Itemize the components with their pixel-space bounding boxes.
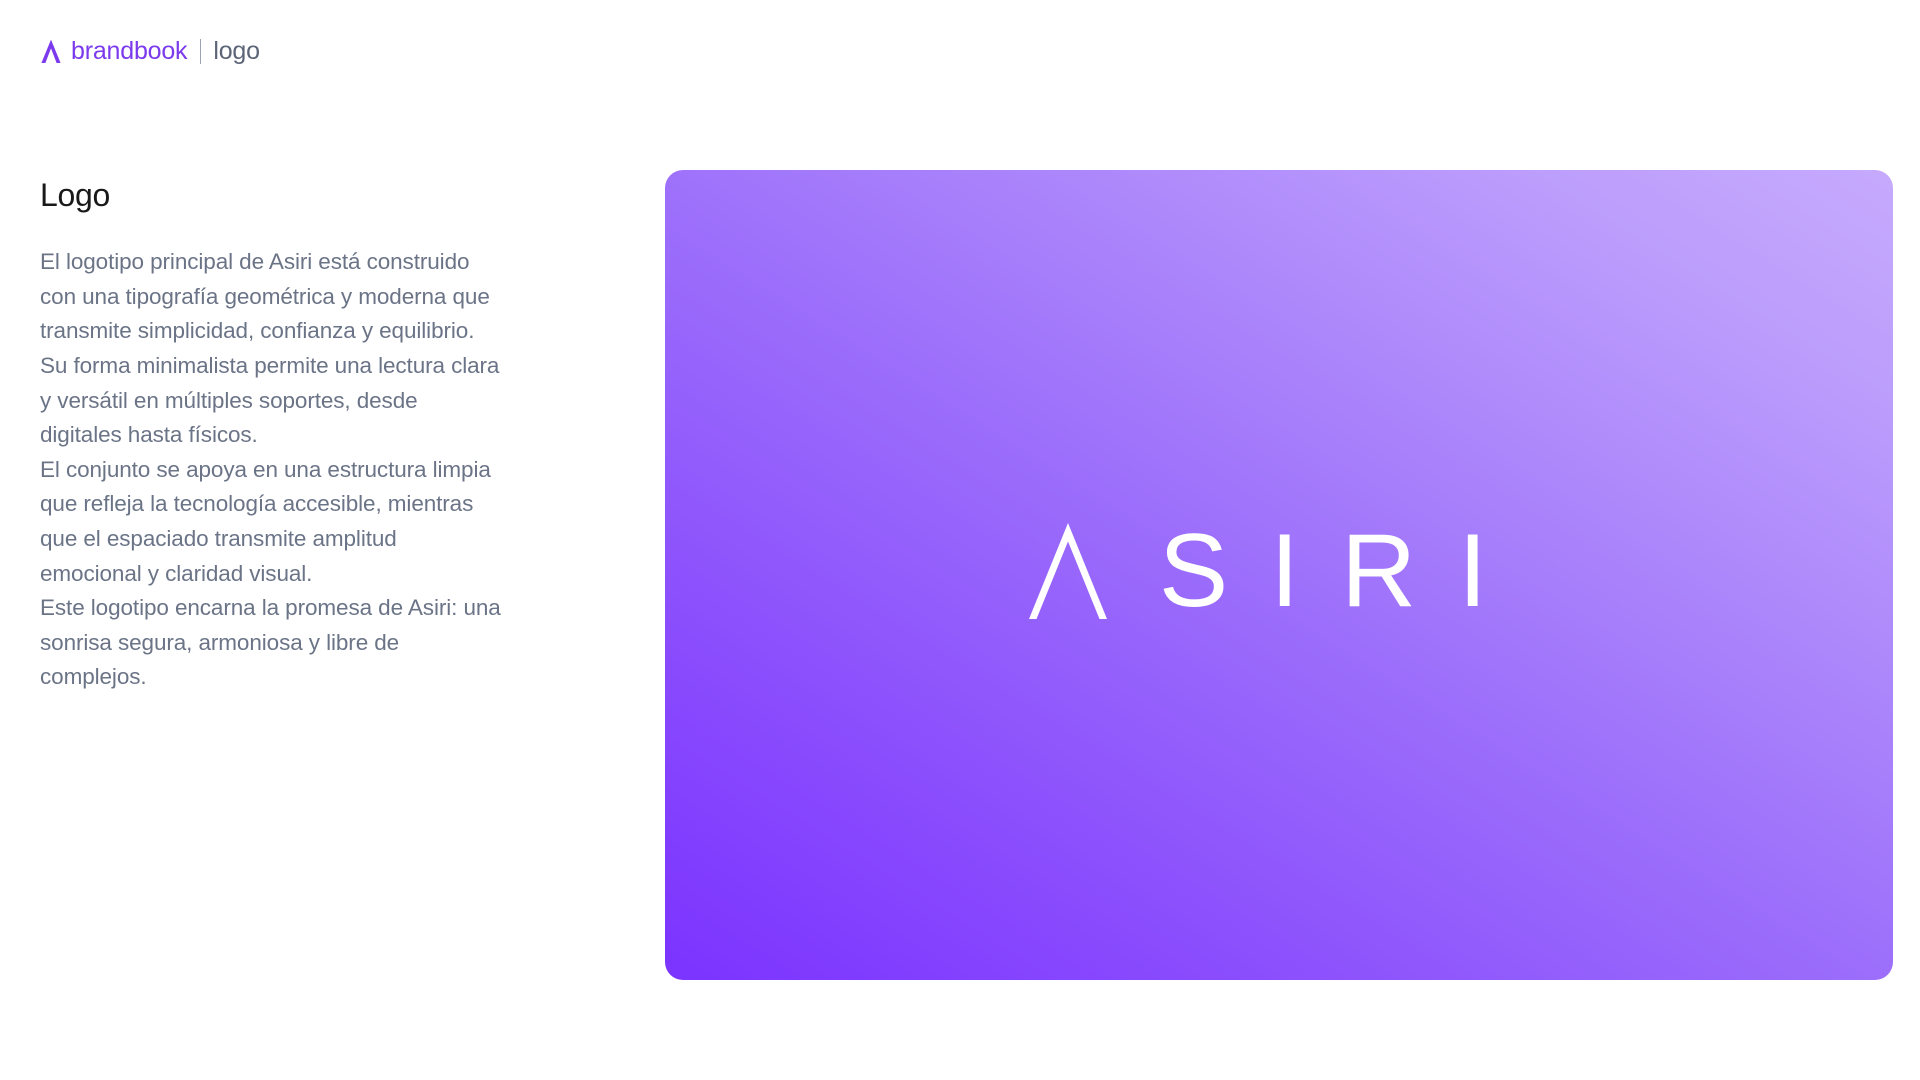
logo-gradient-card: SIRI	[665, 170, 1893, 980]
asiri-wordmark: SIRI	[1155, 519, 1529, 623]
brand-name-label[interactable]: brandbook	[71, 39, 187, 64]
lambda-brand-mark-icon	[40, 38, 62, 64]
logo-description-panel: Logo El logotipo principal de Asiri está…	[40, 178, 502, 695]
asiri-logo-lockup: SIRI	[1029, 519, 1529, 623]
breadcrumb-divider	[200, 39, 201, 64]
page-title: Logo	[40, 178, 502, 213]
lambda-logo-mark-icon	[1029, 523, 1107, 619]
breadcrumb: brandbook logo	[40, 34, 260, 68]
logo-description-text: El logotipo principal de Asiri está cons…	[40, 245, 502, 695]
breadcrumb-section-label[interactable]: logo	[213, 39, 259, 64]
